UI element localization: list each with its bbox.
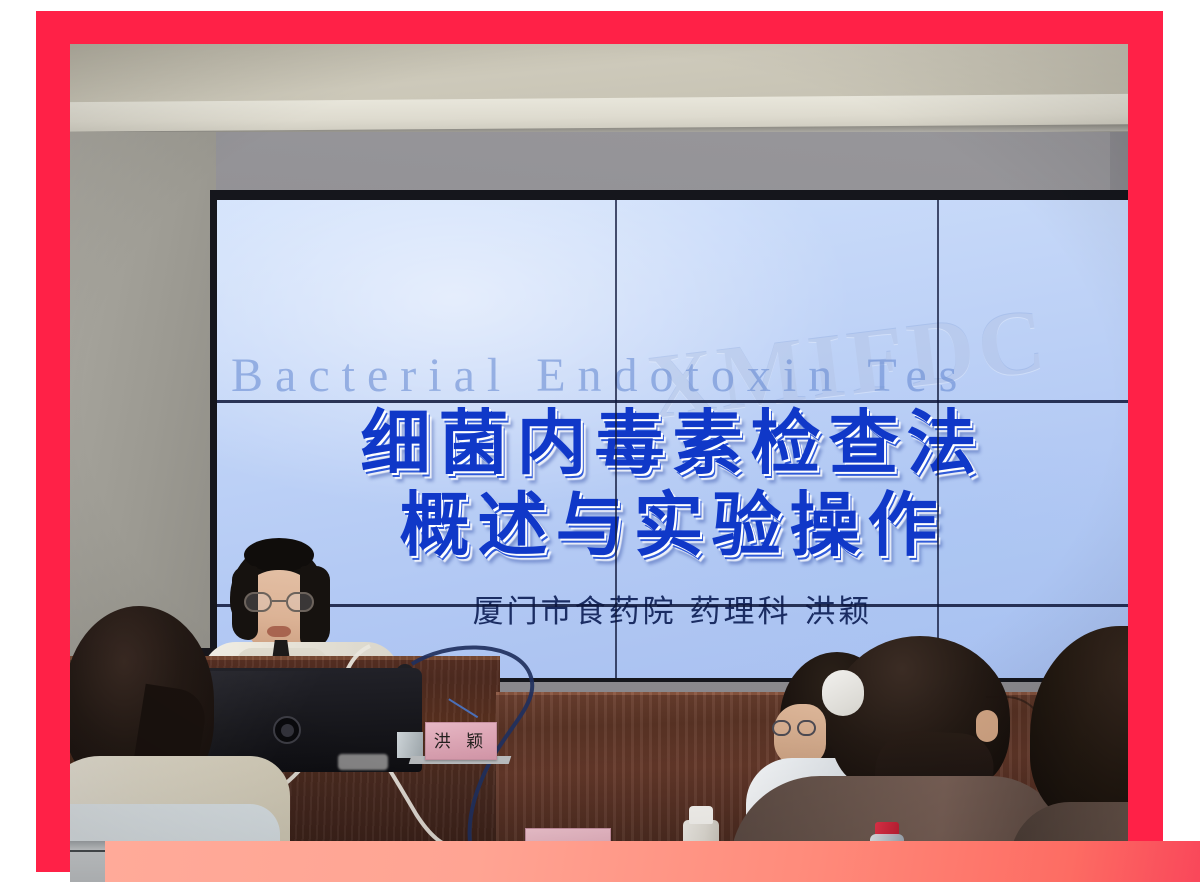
laptop-brand-logo [273,716,301,744]
caption-band-left-stub [70,841,106,882]
presenter-mouth [267,626,291,637]
desk-small-object [397,732,423,758]
laptop-keyboard-glimpse [338,754,388,770]
attendee-foreground-left-lower [70,804,280,841]
water-bottle-red-cap [870,822,904,841]
caption-band [105,841,1200,882]
panel-seam-horizontal-1 [217,400,1128,403]
front-row-placard: 陈惠玲 [525,828,611,841]
slide-english-heading: Bacterial Endotoxin Tes [231,348,1128,403]
lecture-photograph: XMIFDC Bacterial Endotoxin Tes 细菌内毒素检查法 … [70,44,1128,841]
attendee-hair-tie [822,670,864,716]
thermos-cup [683,820,719,841]
attendee-right-shoulder [1010,802,1128,841]
slide-title: 细菌内毒素检查法 概述与实验操作 [217,402,1128,566]
attendee-right-edge [1020,626,1128,841]
page-root: XMIFDC Bacterial Endotoxin Tes 细菌内毒素检查法 … [0,0,1200,882]
slide-title-line-1: 细菌内毒素检查法 [217,402,1128,484]
attendee-right-hair [1030,626,1128,826]
thermos-lid [689,806,713,824]
presenter-placard: 洪 颖 [425,722,497,760]
bottle-body [870,834,904,841]
